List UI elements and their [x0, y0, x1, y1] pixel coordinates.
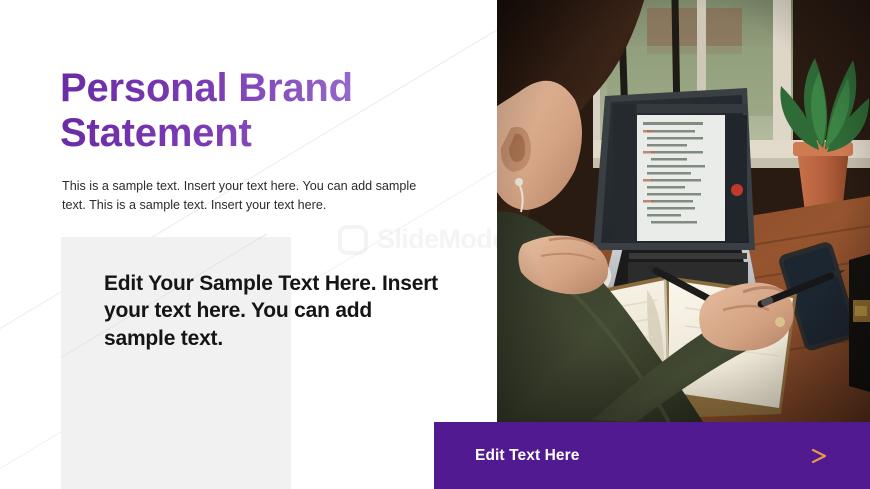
cta-banner[interactable]: Edit Text Here — [434, 422, 870, 489]
watermark-label: SlideModel — [377, 224, 514, 255]
arrow-right-icon — [599, 449, 833, 463]
cta-label: Edit Text Here — [475, 447, 579, 465]
body-paragraph: This is a sample text. Insert your text … — [62, 177, 422, 214]
hero-photo — [497, 0, 870, 422]
slidemodel-logo-icon — [338, 225, 368, 255]
watermark: SlideModel — [338, 224, 514, 255]
presentation-slide: Personal Brand Statement This is a sampl… — [0, 0, 870, 489]
page-title: Personal Brand Statement — [60, 66, 460, 156]
hero-photo-illustration — [497, 0, 870, 422]
panel-headline[interactable]: Edit Your Sample Text Here. Insert your … — [104, 270, 444, 352]
